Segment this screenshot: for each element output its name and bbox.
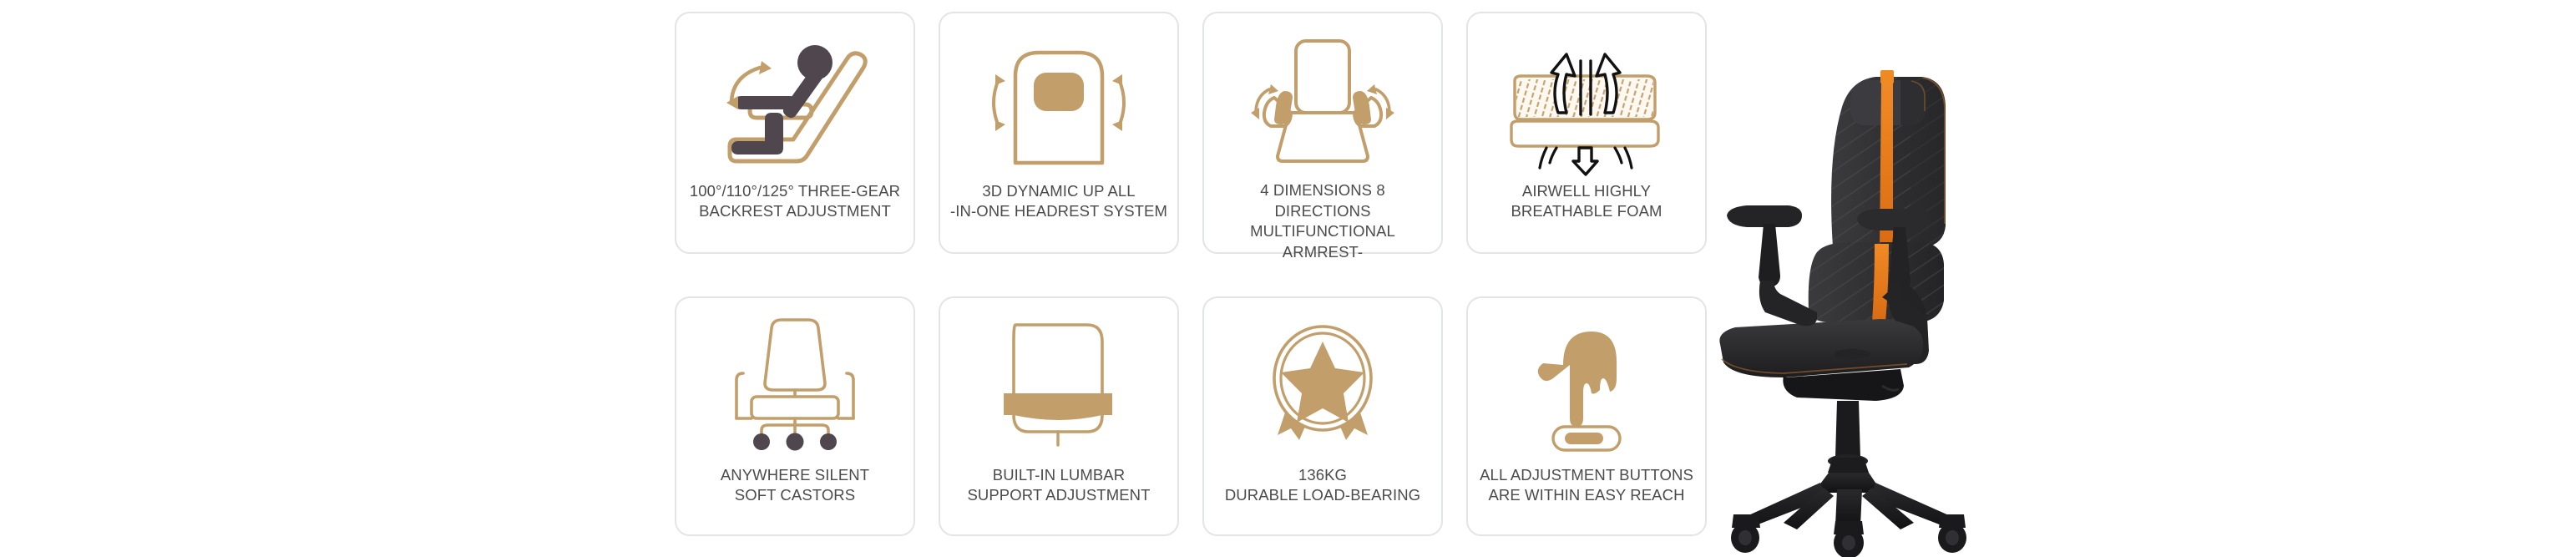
feature-caption: 3D DYNAMIC UP ALL -IN-ONE HEADREST SYSTE… [950, 181, 1167, 222]
feature-card-adjustment-buttons[interactable]: ALL ADJUSTMENT BUTTONS ARE WITHIN EASY R… [1466, 296, 1707, 536]
feature-caption: 100°/110°/125° THREE-GEAR BACKREST ADJUS… [690, 181, 900, 222]
award-badge-star-icon [1239, 310, 1406, 458]
lumbar-support-icon [975, 310, 1142, 458]
breathable-foam-airflow-icon [1503, 25, 1670, 180]
feature-card-breathable-foam[interactable]: AIRWELL HIGHLY BREATHABLE FOAM [1466, 12, 1707, 254]
feature-caption: 4 DIMENSIONS 8 DIRECTIONS MULTIFUNCTIONA… [1212, 180, 1433, 262]
headrest-3d-dynamic-icon [975, 25, 1142, 180]
feature-caption: ANYWHERE SILENT SOFT CASTORS [721, 465, 869, 506]
feature-caption: AIRWELL HIGHLY BREATHABLE FOAM [1511, 181, 1662, 222]
ergonomic-office-chair-image [1703, 0, 2054, 557]
feature-card-multifunctional-armrest[interactable]: 4 DIMENSIONS 8 DIRECTIONS MULTIFUNCTIONA… [1202, 12, 1443, 254]
feature-card-backrest-adjustment[interactable]: 100°/110°/125° THREE-GEAR BACKREST ADJUS… [675, 12, 915, 254]
feature-card-soft-castors[interactable]: ANYWHERE SILENT SOFT CASTORS [675, 296, 915, 536]
feature-card-headrest-system[interactable]: 3D DYNAMIC UP ALL -IN-ONE HEADREST SYSTE… [939, 12, 1179, 254]
feature-caption: BUILT-IN LUMBAR SUPPORT ADJUSTMENT [967, 465, 1150, 506]
feature-card-grid: 100°/110°/125° THREE-GEAR BACKREST ADJUS… [675, 12, 1707, 536]
feature-card-load-bearing[interactable]: 136KG DURABLE LOAD-BEARING [1202, 296, 1443, 536]
hand-pressing-button-icon [1503, 310, 1670, 458]
feature-caption: ALL ADJUSTMENT BUTTONS ARE WITHIN EASY R… [1480, 465, 1693, 506]
feature-caption: 136KG DURABLE LOAD-BEARING [1225, 465, 1420, 506]
reclining-person-backrest-icon [711, 25, 878, 180]
office-chair-castors-icon [711, 310, 878, 458]
feature-card-lumbar-support[interactable]: BUILT-IN LUMBAR SUPPORT ADJUSTMENT [939, 296, 1179, 536]
product-feature-panel: 100°/110°/125° THREE-GEAR BACKREST ADJUS… [0, 0, 2576, 557]
multifunctional-armrest-icon [1239, 25, 1406, 180]
